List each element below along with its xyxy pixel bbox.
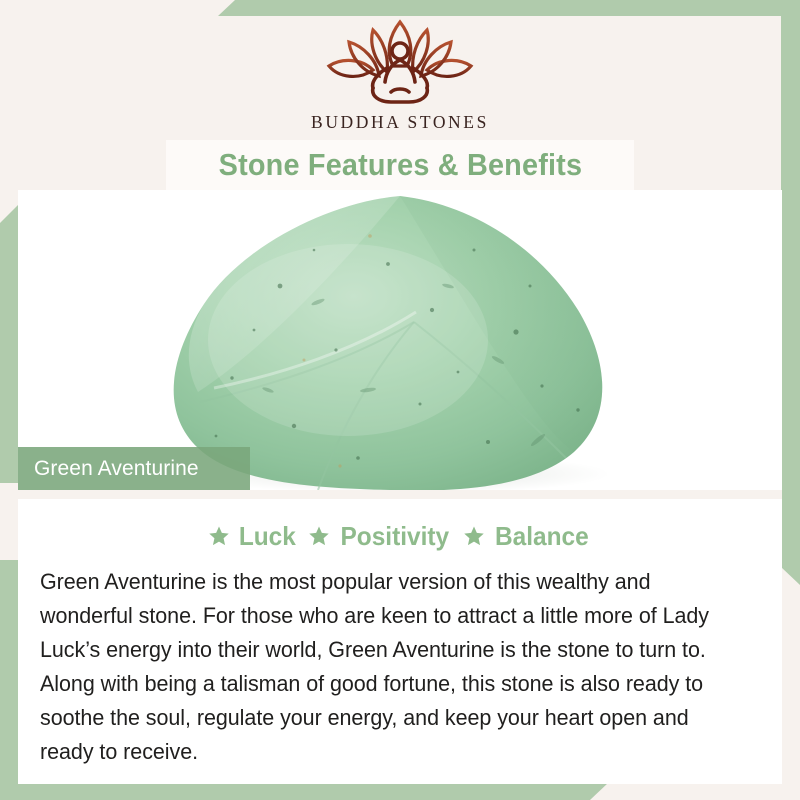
brand-header: BUDDHA STONES	[0, 0, 800, 145]
stone-description-card: Luck Positivity Balance Green Aventurine…	[18, 499, 782, 784]
star-icon	[463, 525, 485, 547]
decorative-left-strip-upper	[0, 205, 18, 483]
benefit-item-positivity: Positivity	[308, 521, 453, 552]
page-title: Stone Features & Benefits	[218, 147, 582, 183]
decorative-bottom-bar	[0, 783, 608, 800]
benefit-label: Balance	[495, 521, 589, 552]
stone-image-card	[18, 190, 782, 490]
stone-name-label: Green Aventurine	[18, 457, 199, 481]
lotus-meditation-icon	[315, 18, 485, 110]
benefit-label: Luck	[239, 521, 296, 552]
stone-name-band: Green Aventurine	[18, 447, 250, 490]
star-icon	[208, 525, 230, 547]
star-icon	[308, 525, 330, 547]
benefit-label: Positivity	[341, 521, 450, 552]
stone-description-text: Green Aventurine is the most popular ver…	[40, 565, 728, 769]
title-banner: Stone Features & Benefits	[166, 140, 634, 190]
stone-features-infographic: BUDDHA STONES Stone Features & Benefits	[0, 0, 800, 800]
green-aventurine-stone-image	[18, 190, 782, 490]
benefit-item-balance: Balance	[463, 521, 592, 552]
brand-wordmark: BUDDHA STONES	[311, 112, 489, 133]
image-text-separator	[18, 490, 782, 499]
benefit-item-luck: Luck	[208, 521, 298, 552]
decorative-left-strip-lower	[0, 560, 18, 800]
benefits-row: Luck Positivity Balance	[32, 515, 768, 557]
